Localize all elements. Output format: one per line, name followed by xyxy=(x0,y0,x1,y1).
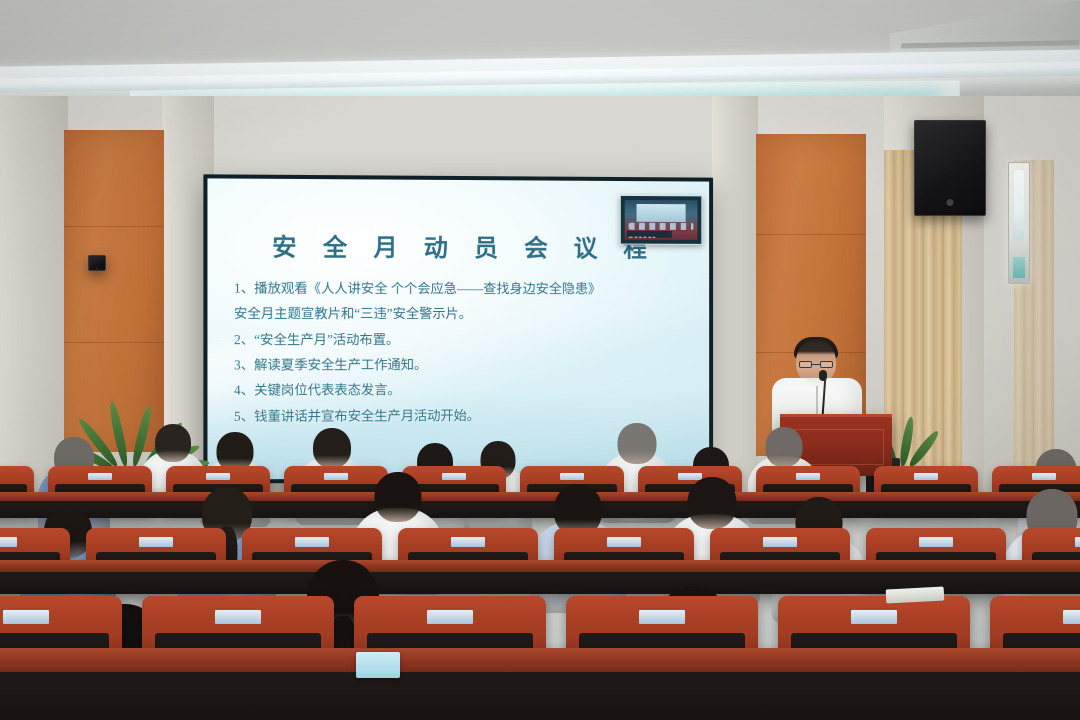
pip-badge-icon xyxy=(629,236,633,237)
audience-person-head xyxy=(618,423,657,464)
right-wall-speaker xyxy=(914,120,986,216)
wall-column-left xyxy=(0,96,68,496)
chair-nameplate xyxy=(914,473,939,480)
slide-line-1-cont: 安全月主题宣教片和“三违”安全警示片。 xyxy=(234,301,697,327)
chair-nameplate xyxy=(451,537,485,546)
audience-person-head xyxy=(375,472,422,522)
pip-remote-screen xyxy=(636,204,685,222)
video-conference-inset xyxy=(620,195,703,245)
chair-nameplate xyxy=(796,473,821,480)
chair-nameplate xyxy=(427,610,473,624)
chair-nameplate xyxy=(919,537,953,546)
audience-person-head xyxy=(155,424,191,462)
slide-line-2: 2、“安全生产月”活动布置。 xyxy=(234,327,697,353)
chair-nameplate xyxy=(1063,610,1080,624)
chair-nameplate xyxy=(139,537,173,546)
slide-line-1: 1、播放观看《人人讲安全 个个会应急——查找身边安全隐患》 xyxy=(234,275,697,301)
chair-nameplate xyxy=(206,473,231,480)
right-wall-sconce xyxy=(1008,162,1030,284)
sconce-base xyxy=(1013,257,1025,279)
chair-nameplate xyxy=(763,537,797,546)
audience-desk xyxy=(0,648,1080,720)
pip-remote-room xyxy=(625,200,698,240)
chair-nameplate xyxy=(560,473,585,480)
chair-nameplate xyxy=(442,473,467,480)
presenter-glasses xyxy=(799,361,833,368)
chair-nameplate xyxy=(88,473,113,480)
slide-line-4: 4、关键岗位代表表态发言。 xyxy=(234,377,697,404)
desk-front-panel xyxy=(0,672,1080,720)
audience-person-head xyxy=(688,477,737,529)
desk-top xyxy=(0,648,1080,672)
slide-line-3: 3、解读夏季安全生产工作通知。 xyxy=(234,352,697,378)
chair-nameplate xyxy=(0,537,17,546)
left-wall-speaker xyxy=(88,255,106,271)
chair-nameplate xyxy=(324,473,349,480)
chair-nameplate xyxy=(295,537,329,546)
audience-person-head xyxy=(766,427,803,467)
pip-caption-text xyxy=(634,237,655,238)
pip-caption-bar xyxy=(627,231,672,239)
pip-remote-attendees xyxy=(629,223,693,230)
microphone-head xyxy=(819,370,827,381)
slide-body: 1、播放观看《人人讲安全 个个会应急——查找身边安全隐患》 安全月主题宣教片和“… xyxy=(234,275,697,429)
chair-nameplate xyxy=(851,610,897,624)
audience-person-head xyxy=(313,428,351,468)
chair-nameplate xyxy=(1075,537,1080,546)
sconce-tube xyxy=(1014,170,1024,240)
chair-nameplate xyxy=(215,610,261,624)
chair-nameplate xyxy=(3,610,49,624)
conference-room-photo: 安 全 月 动 员 会 议 程 1、播放观看《人人讲安全 个个会应急——查找身边… xyxy=(0,0,1080,720)
chair-nameplate xyxy=(607,537,641,546)
chair-nameplate xyxy=(1032,473,1057,480)
desk-nameplate xyxy=(356,652,400,678)
chair-nameplate xyxy=(639,610,685,624)
desk-top xyxy=(0,560,1080,572)
